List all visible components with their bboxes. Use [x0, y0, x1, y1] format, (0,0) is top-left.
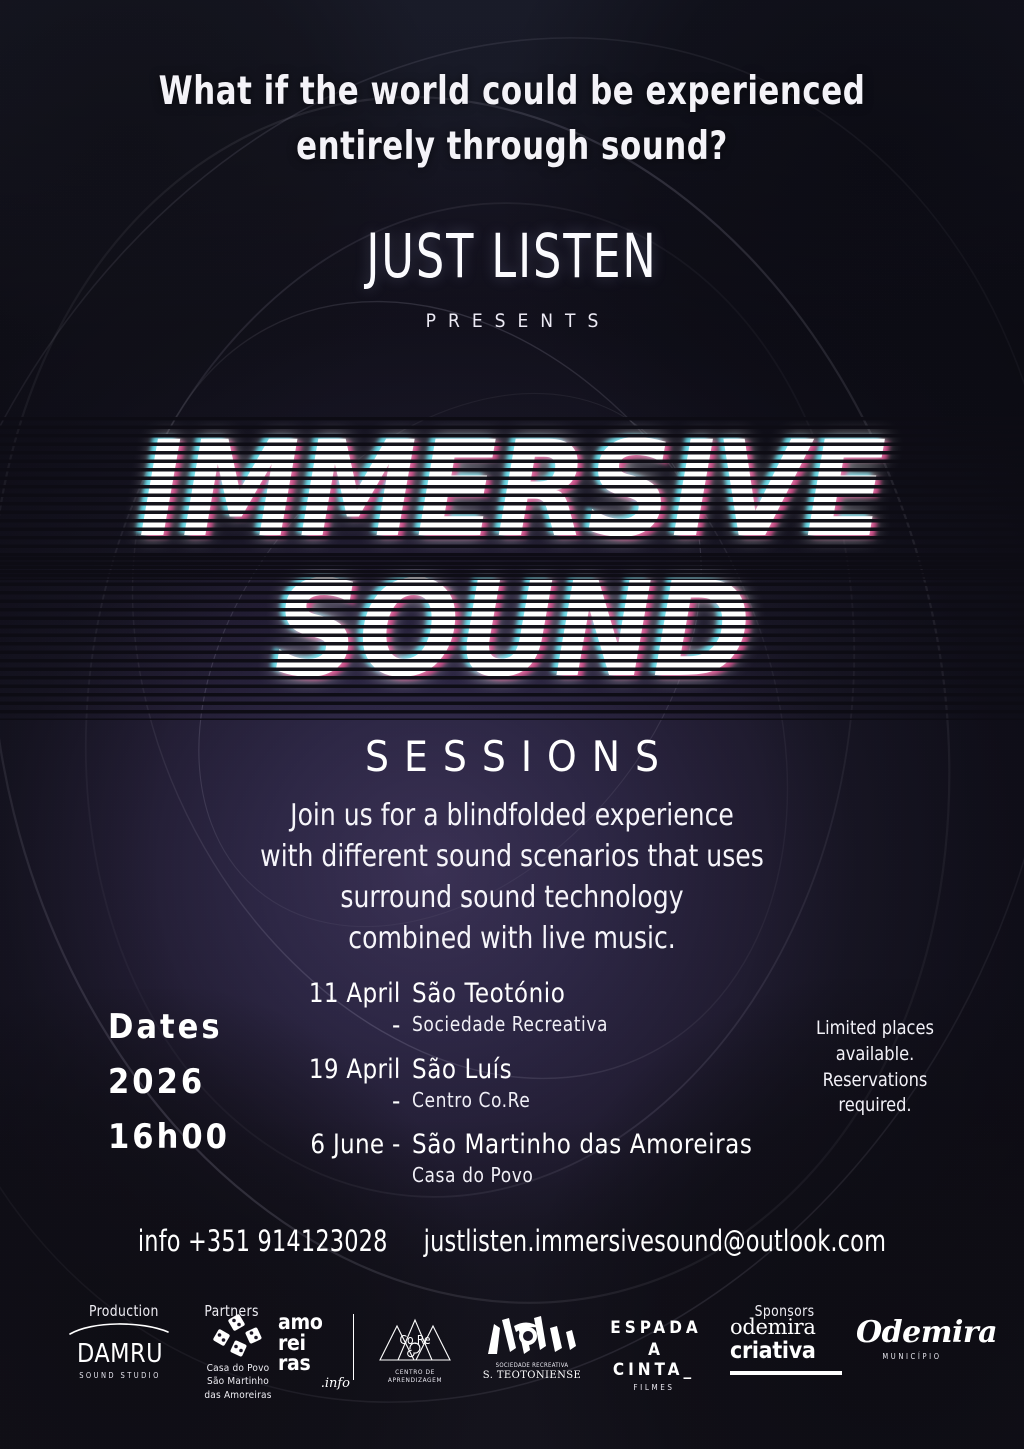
brand-name: JUST LISTEN: [41, 221, 983, 292]
dates-label-year: 2026: [108, 1055, 230, 1110]
schedule-venue: São Luís Centro Co.Re: [412, 1054, 790, 1112]
schedule-city: São Luís: [412, 1054, 771, 1086]
brand-block: JUST LISTEN PRESENTS: [0, 225, 1024, 332]
casa-line-3: das Amoreiras: [192, 1389, 284, 1402]
core-triangles-icon: Co.Re: [374, 1314, 456, 1366]
contact-email[interactable]: justlisten.immersivesound@outlook.com: [424, 1224, 886, 1258]
description-line: combined with live music.: [36, 918, 988, 959]
schedule-row: 6 June - São Martinho das Amoreiras Casa…: [290, 1129, 790, 1187]
description-line: surround sound technology: [36, 877, 988, 918]
schedule-city: São Martinho das Amoreiras: [412, 1129, 771, 1161]
notice-line: required.: [799, 1093, 951, 1119]
amoreiras-line-3: ras: [278, 1353, 350, 1374]
odemira-criativa-line-2: criativa: [730, 1339, 846, 1363]
odemira-criativa-line-1: odemira: [730, 1316, 846, 1338]
brand-presents: PRESENTS: [0, 310, 1024, 332]
damru-swoosh-icon: [68, 1323, 172, 1337]
title-main-layer: SOUND: [0, 570, 1024, 691]
logo-espada-a-cinta: ESPADA A CINTA_ FILMES: [604, 1318, 704, 1392]
sr-subtitle-1: SOCIEDADE RECREATIVA: [480, 1362, 584, 1369]
dates-label-time: 16h00: [108, 1110, 230, 1165]
odemira-municipio-subtitle: MUNICÍPIO: [856, 1352, 968, 1361]
title-line-sound: SOUND SOUND SOUND SOUND: [0, 570, 1024, 702]
amoreiras-line-2: rei: [278, 1333, 350, 1354]
espada-line-3: FILMES: [604, 1383, 704, 1392]
damru-wordmark: DAMRU: [70, 1341, 170, 1367]
schedule-place: Sociedade Recreativa: [412, 1012, 771, 1036]
tagline-line-2: entirely through sound?: [61, 119, 962, 174]
logo-core: Co.Re CENTRO DE APRENDIZAGEM: [374, 1314, 456, 1384]
espada-line-1: ESPADA: [604, 1318, 704, 1338]
schedule-date: 11 April -: [296, 978, 412, 1042]
contact-phone[interactable]: info +351 914123028: [138, 1224, 388, 1258]
footer-credits: Production Partners Sponsors DAMRU SOUND…: [0, 1274, 1024, 1449]
schedule-venue: São Teotónio Sociedade Recreativa: [412, 978, 790, 1036]
title-subtitle-sessions: SESSIONS: [0, 732, 1024, 781]
schedule-date: 6 June -: [296, 1129, 412, 1161]
poster-content: What if the world could be experienced e…: [0, 0, 1024, 1449]
description-line: Join us for a blindfolded experience: [36, 795, 988, 836]
notice-line: Reservations: [799, 1068, 951, 1094]
amoreiras-line-1: amo: [278, 1312, 350, 1333]
odemira-municipio-wordmark: Odemira: [856, 1318, 968, 1348]
title-line-immersive: IMMERSIVE IMMERSIVE IMMERSIVE IMMERSIVE: [0, 430, 1024, 562]
core-subtitle: CENTRO DE APRENDIZAGEM: [374, 1368, 456, 1384]
title-block: IMMERSIVE IMMERSIVE IMMERSIVE IMMERSIVE …: [0, 430, 1024, 781]
tagline-line-1: What if the world could be experienced: [61, 64, 962, 119]
description: Join us for a blindfolded experience wit…: [36, 795, 988, 959]
schedule-list: 11 April - São Teotónio Sociedade Recrea…: [290, 978, 790, 1199]
casa-line-2: São Martinho: [192, 1375, 284, 1388]
espada-line-2: A CINTA_: [604, 1340, 704, 1380]
schedule-place: Casa do Povo: [412, 1163, 771, 1187]
amoreiras-info-suffix: .info: [278, 1376, 350, 1391]
odemira-criativa-underline: [730, 1371, 842, 1375]
logo-sr-teotoniense: SOCIEDADE RECREATIVA S. TEOTONIENSE: [480, 1314, 584, 1381]
schedule-date: 19 April -: [296, 1054, 412, 1118]
schedule-row: 19 April - São Luís Centro Co.Re: [290, 1054, 790, 1118]
description-line: with different sound scenarios that uses: [36, 836, 988, 877]
schedule-place: Centro Co.Re: [412, 1088, 771, 1112]
caption-production: Production: [89, 1302, 159, 1320]
poster-canvas: What if the world could be experienced e…: [0, 0, 1024, 1449]
logo-odemira-criativa: odemira criativa: [730, 1316, 846, 1375]
sr-subtitle-2: S. TEOTONIENSE: [480, 1370, 584, 1381]
schedule-row: 11 April - São Teotónio Sociedade Recrea…: [290, 978, 790, 1042]
sr-brush-icon: [480, 1314, 584, 1362]
svg-text:Co.Re: Co.Re: [400, 1333, 431, 1347]
notice-line: Limited places: [799, 1016, 951, 1042]
casa-do-povo-pinwheel-icon: [213, 1314, 263, 1358]
casa-do-povo-text: Casa do Povo São Martinho das Amoreiras: [192, 1362, 284, 1402]
logo-odemira-municipio: Odemira MUNICÍPIO: [856, 1318, 968, 1361]
logo-amoreiras: amo rei ras .info: [278, 1312, 350, 1391]
notice-line: available.: [799, 1042, 951, 1068]
dates-label-word: Dates: [108, 1000, 230, 1055]
logo-casa-do-povo: Casa do Povo São Martinho das Amoreiras: [192, 1314, 284, 1402]
schedule-venue: São Martinho das Amoreiras Casa do Povo: [412, 1129, 790, 1187]
contact-bar: info +351 914123028justlisten.immersives…: [72, 1224, 953, 1258]
title-main-layer: IMMERSIVE: [0, 430, 1024, 551]
reservations-notice: Limited places available. Reservations r…: [799, 1016, 951, 1119]
damru-tagline: SOUND STUDIO: [68, 1371, 172, 1380]
tagline: What if the world could be experienced e…: [61, 64, 962, 175]
schedule-city: São Teotónio: [412, 978, 771, 1010]
amoreiras-divider: [353, 1314, 355, 1380]
logo-damru: DAMRU SOUND STUDIO: [68, 1322, 172, 1380]
dates-label-block: Dates 2026 16h00: [108, 1000, 230, 1165]
casa-line-1: Casa do Povo: [192, 1362, 284, 1375]
